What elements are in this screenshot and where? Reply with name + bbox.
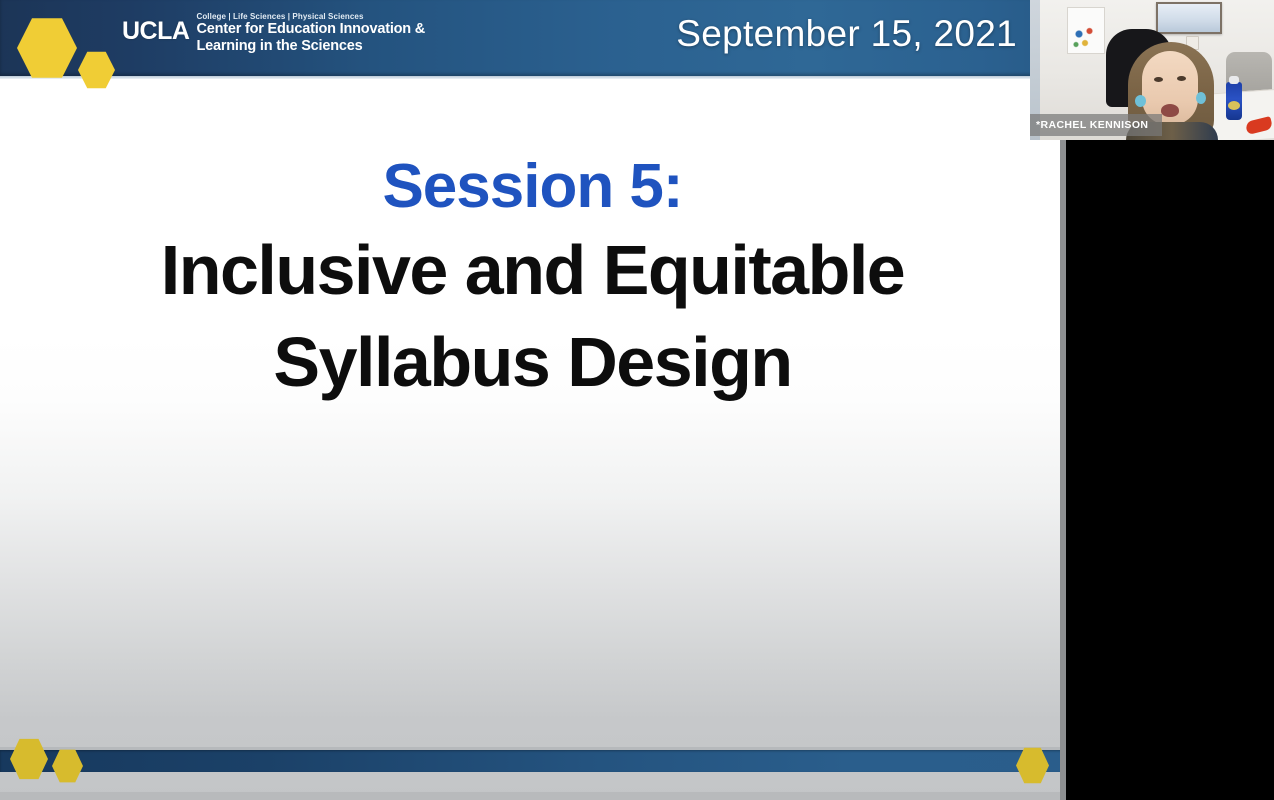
logo-center-name-line-1: Center for Education Innovation & (196, 21, 425, 38)
slide-header-underline (0, 76, 1065, 79)
participant-earring-right (1196, 92, 1206, 104)
presentation-slide[interactable]: UCLA College | Life Sciences | Physical … (0, 0, 1065, 800)
slide-title-line-1: Inclusive and Equitable (0, 228, 1065, 313)
slide-date: September 15, 2021 (676, 14, 1017, 55)
ucla-wordmark: UCLA (122, 19, 189, 44)
slide-session-label: Session 5: (0, 152, 1065, 221)
screen-share-view: UCLA College | Life Sciences | Physical … (0, 0, 1274, 800)
participant-eye-right (1177, 76, 1186, 81)
participant-earring-left (1135, 95, 1146, 107)
water-bottle-cap-decor (1229, 76, 1239, 84)
participant-mouth (1161, 104, 1179, 117)
framed-picture-decor (1156, 2, 1222, 34)
ucla-ceils-logo: UCLA College | Life Sciences | Physical … (122, 10, 425, 55)
black-background-right (1065, 140, 1274, 800)
participant-name-badge: *RACHEL KENNISON (1030, 114, 1162, 136)
logo-text-column: College | Life Sciences | Physical Scien… (196, 10, 425, 55)
participant-video-tile[interactable]: *RACHEL KENNISON (1030, 0, 1274, 140)
slide-bottom-edge (0, 792, 1065, 800)
slide-right-edge-gap (1060, 140, 1066, 800)
water-bottle-logo-decor (1228, 101, 1240, 110)
slide-title-block: Session 5: Inclusive and Equitable Sylla… (0, 152, 1065, 405)
slide-footer-bar (0, 750, 1065, 772)
logo-center-name-line-2: Learning in the Sciences (196, 38, 425, 55)
slide-title-line-2: Syllabus Design (0, 320, 1065, 405)
hexagon-decoration-bottom-left-large (10, 738, 48, 780)
participant-eye-left (1154, 77, 1163, 82)
whiteboard-drawings-decor (1070, 22, 1100, 52)
logo-eyebrow-text: College | Life Sciences | Physical Scien… (196, 12, 425, 21)
